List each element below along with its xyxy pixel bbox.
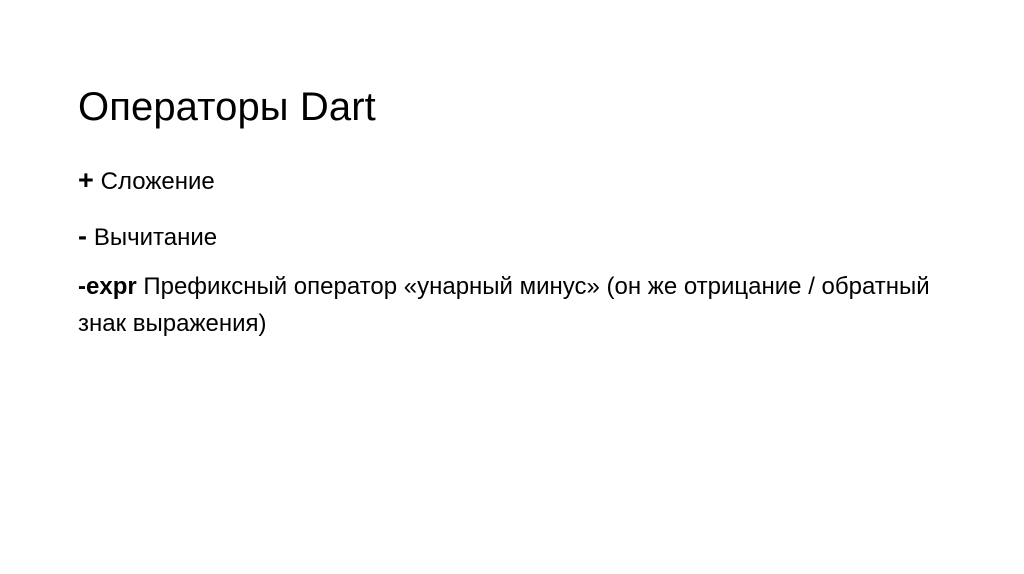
operator-description: Префиксный оператор «унарный минус» (он … bbox=[78, 273, 930, 337]
operator-symbol-plus: + bbox=[78, 165, 94, 195]
operator-line: - Вычитание bbox=[78, 218, 950, 256]
operator-symbol-minus: - bbox=[78, 221, 87, 251]
operator-entry-subtraction: - Вычитание bbox=[78, 218, 950, 256]
operator-description: Вычитание bbox=[94, 224, 217, 251]
operator-description: Сложение bbox=[101, 168, 215, 195]
slide-canvas: Операторы Dart + Сложение - Вычитание -e… bbox=[0, 0, 1024, 574]
operator-line: -expr Префиксный оператор «унарный минус… bbox=[78, 268, 950, 342]
operator-entry-unary-minus: -expr Префиксный оператор «унарный минус… bbox=[78, 268, 950, 342]
page-title: Операторы Dart bbox=[78, 83, 958, 131]
operator-entry-addition: + Сложение bbox=[78, 162, 950, 200]
operator-line: + Сложение bbox=[78, 162, 950, 200]
operator-symbol-unary-minus-expr: -expr bbox=[78, 273, 137, 300]
